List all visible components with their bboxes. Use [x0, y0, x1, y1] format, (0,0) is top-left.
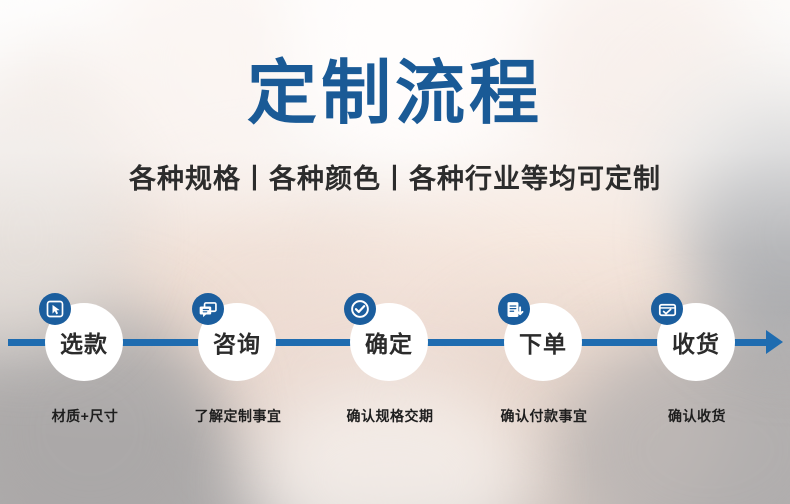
process-step-5[interactable]: 收货 确认收货 — [657, 303, 737, 383]
process-step-4[interactable]: 下单 确认付款事宜 — [504, 303, 584, 383]
step-label: 收货 — [672, 325, 720, 359]
check-circle-icon — [344, 293, 376, 325]
custom-process-banner: 定制流程 各种规格丨各种颜色丨各种行业等均可定制 选款 材质+尺寸 咨询 — [0, 0, 790, 504]
step-label: 咨询 — [213, 325, 261, 359]
step-caption: 材质+尺寸 — [52, 406, 119, 426]
step-caption: 了解定制事宜 — [195, 406, 282, 426]
chat-bubble-icon — [192, 293, 224, 325]
package-check-icon — [651, 293, 683, 325]
step-label: 选款 — [60, 325, 108, 359]
process-step-list: 选款 材质+尺寸 咨询 了解定制事宜 — [0, 0, 790, 504]
step-caption: 确认付款事宜 — [501, 406, 588, 426]
process-step-1[interactable]: 选款 材质+尺寸 — [45, 303, 125, 383]
step-label: 确定 — [365, 325, 413, 359]
document-download-icon — [498, 293, 530, 325]
step-caption: 确认规格交期 — [347, 406, 434, 426]
process-step-3[interactable]: 确定 确认规格交期 — [350, 303, 430, 383]
cursor-select-icon — [39, 293, 71, 325]
step-caption: 确认收货 — [668, 406, 726, 426]
step-label: 下单 — [519, 325, 567, 359]
process-step-2[interactable]: 咨询 了解定制事宜 — [198, 303, 278, 383]
